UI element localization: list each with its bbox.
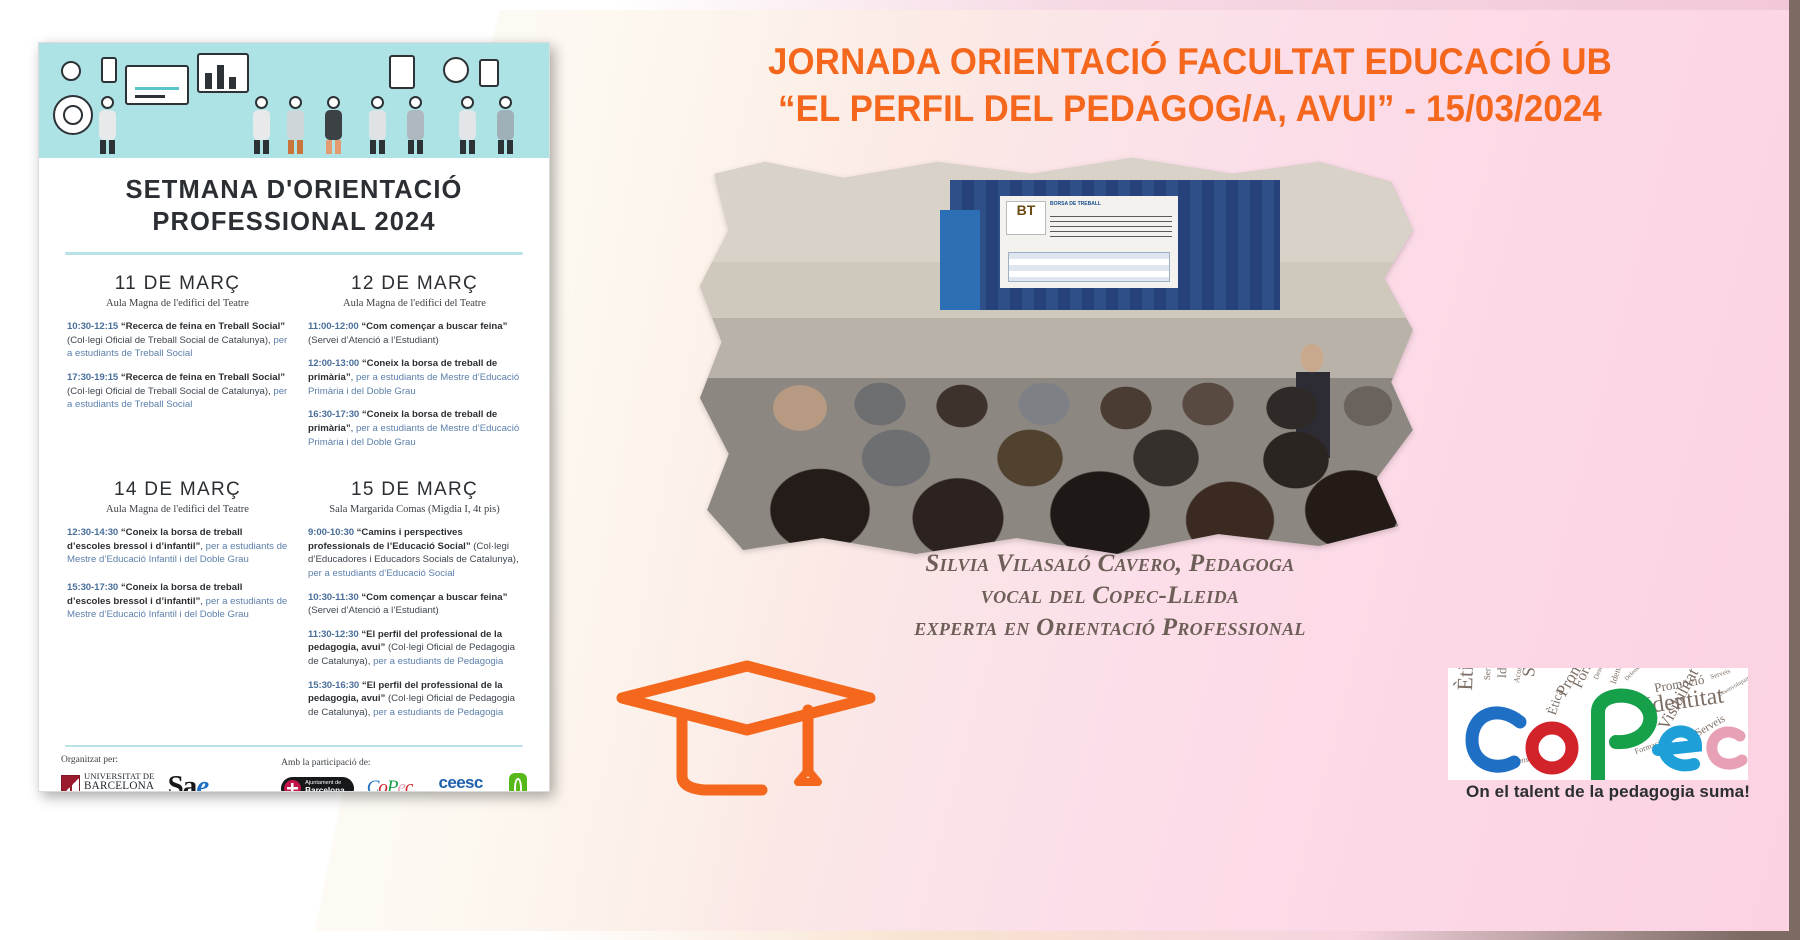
event-item: 10:30-11:30 “Com començar a buscar feina… bbox=[308, 591, 521, 618]
event-audience: per a estudiants d’Educació Social bbox=[308, 568, 455, 579]
speaker-expertise-line: experta en Orientació Professional bbox=[830, 612, 1390, 644]
event-time: 11:30-12:30 bbox=[308, 629, 359, 640]
event-item: 16:30-17:30 “Coneix la borsa de treball … bbox=[308, 408, 521, 449]
event-item: 15:30-17:30 “Coneix la borsa de treball … bbox=[67, 581, 288, 622]
event-item: 17:30-19:15 “Recerca de feina en Treball… bbox=[67, 371, 288, 412]
chart-bar bbox=[217, 65, 224, 89]
event-item: 11:00-12:00 “Com començar a buscar feina… bbox=[308, 320, 521, 347]
day-column-12-marc: 12 DE MARÇ Aula Magna de l'edifici del T… bbox=[294, 267, 527, 459]
speaker-name-line: Silvia Vilasaló Cavero, Pedagoga bbox=[830, 548, 1390, 580]
day-venue: Aula Magna de l'edifici del Teatre bbox=[67, 504, 288, 515]
border-strip-right bbox=[1789, 0, 1800, 940]
participation-label: Amb la participació de: bbox=[281, 758, 527, 768]
clipboard-icon bbox=[101, 57, 117, 83]
organizer-logos: UNIVERSITAT DE BARCELONA Facultat d'Educ… bbox=[61, 770, 255, 792]
presentation-board-icon bbox=[125, 65, 189, 105]
screen-table bbox=[1008, 252, 1170, 282]
screen-text-lines bbox=[1050, 216, 1172, 240]
event-item: 11:30-12:30 “El perfil del professional … bbox=[308, 628, 521, 669]
divider bbox=[65, 745, 523, 747]
lightbulb-icon bbox=[61, 61, 81, 81]
ub-shield-icon bbox=[61, 775, 80, 792]
ub-logo: UNIVERSITAT DE BARCELONA Facultat d'Educ… bbox=[61, 772, 155, 792]
sae-logo-italic: e bbox=[196, 770, 208, 792]
chart-bar bbox=[205, 73, 212, 89]
event-title: “Com començar a buscar feina” bbox=[361, 321, 507, 332]
board-line bbox=[135, 95, 165, 98]
ceesc-logo: ceesc COL·LEGI D'EDUCADORES I EDUCADORS … bbox=[425, 773, 495, 792]
event-time: 15:30-17:30 bbox=[67, 582, 118, 593]
copec-tagline: On el talent de la pedagogia suma! bbox=[1448, 782, 1768, 802]
event-audience: per a estudiants de Pedagogia bbox=[370, 707, 503, 718]
poster-footer: Organitzat per: UNIVERSITAT DE BARCELONA… bbox=[39, 729, 549, 792]
lightbulb-large-icon bbox=[443, 57, 469, 83]
event-poster: SETMANA D'ORIENTACIÓ PROFESSIONAL 2024 1… bbox=[38, 42, 550, 792]
event-title: “Recerca de feina en Treball Social” bbox=[121, 372, 285, 383]
day-venue: Sala Margarida Comas (Migdia I, 4t pis) bbox=[308, 504, 521, 515]
border-strip-bottom bbox=[0, 931, 1800, 940]
ub-logo-line-2: BARCELONA bbox=[84, 781, 155, 792]
copec-wordcloud: Ètica Serveis Identitat Serveis Acompany… bbox=[1448, 668, 1748, 780]
event-time: 12:00-13:00 bbox=[308, 358, 359, 369]
event-org: (Servei d’Atenció a l’Estudiant) bbox=[308, 335, 439, 346]
day-column-15-marc: 15 DE MARÇ Sala Margarida Comas (Migdia … bbox=[294, 473, 527, 729]
wheelchair-hub-icon bbox=[63, 105, 83, 125]
copec-logo: Ètica Serveis Identitat Serveis Acompany… bbox=[1448, 668, 1768, 818]
copec-mini-logo: CoPec bbox=[367, 777, 413, 792]
day-title: 14 DE MARÇ bbox=[67, 479, 288, 501]
chart-bar bbox=[229, 77, 236, 89]
day-column-11-marc: 11 DE MARÇ Aula Magna de l'edifici del T… bbox=[61, 267, 294, 459]
border-strip-left bbox=[0, 0, 10, 940]
event-time: 9:00-10:30 bbox=[308, 527, 354, 538]
event-time: 12:30-14:30 bbox=[67, 527, 118, 538]
speaker-role-line: vocal del Copec-Lleida bbox=[830, 580, 1390, 612]
event-item: 12:30-14:30 “Coneix la borsa de treball … bbox=[67, 526, 288, 567]
screen-heading: BORSA DE TREBALL bbox=[1050, 201, 1176, 207]
ajuntament-barcelona-logo: Ajuntament de Barcelona bbox=[281, 777, 354, 792]
event-org: (Col·legi Oficial de Treball Social de C… bbox=[67, 335, 271, 346]
slide-title: JORNADA ORIENTACIÓ FACULTAT EDUCACIÓ UB … bbox=[610, 38, 1770, 133]
organized-by-label: Organitzat per: bbox=[61, 755, 255, 765]
tablet-icon bbox=[479, 59, 499, 87]
ladder-icon bbox=[389, 55, 415, 89]
day-venue: Aula Magna de l'edifici del Teatre bbox=[308, 298, 521, 309]
event-org: (Col·legi Oficial de Treball Social de C… bbox=[67, 386, 271, 397]
graduation-cap-icon bbox=[612, 658, 882, 798]
schedule-row-1: 11 DE MARÇ Aula Magna de l'edifici del T… bbox=[61, 267, 527, 459]
event-item: 12:00-13:00 “Coneix la borsa de treball … bbox=[308, 357, 521, 398]
event-time: 17:30-19:15 bbox=[67, 372, 118, 383]
sae-logo-text: Sa bbox=[168, 770, 197, 792]
board-line bbox=[135, 87, 179, 90]
poster-illustration-banner bbox=[39, 43, 549, 158]
event-title: “Recerca de feina en Treball Social” bbox=[121, 321, 285, 332]
event-time: 15:30-16:30 bbox=[308, 680, 359, 691]
slide-canvas: JORNADA ORIENTACIÓ FACULTAT EDUCACIÓ UB … bbox=[0, 0, 1800, 940]
title-line-2: “EL PERFIL DEL PEDAGOG/A, AVUI” - 15/03/… bbox=[645, 85, 1735, 132]
day-title: 15 DE MARÇ bbox=[308, 479, 521, 501]
participant-logos: Ajuntament de Barcelona CoPec ceesc COL·… bbox=[281, 773, 527, 792]
day-column-14-marc: 14 DE MARÇ Aula Magna de l'edifici del T… bbox=[61, 473, 294, 729]
copec-letter-shapes bbox=[1448, 668, 1748, 780]
event-audience: per a estudiants de Pedagogia bbox=[370, 656, 503, 667]
ajuntament-crest-icon bbox=[284, 780, 301, 792]
event-time: 10:30-12:15 bbox=[67, 321, 118, 332]
event-time: 11:00-12:00 bbox=[308, 321, 359, 332]
lecture-photo: BT BORSA DE TREBALL bbox=[700, 158, 1420, 558]
poster-heading: SETMANA D'ORIENTACIÓ PROFESSIONAL 2024 bbox=[61, 174, 527, 238]
screen-logo: BT bbox=[1006, 201, 1046, 235]
event-item: 9:00-10:30 “Camins i perspectives profes… bbox=[308, 526, 521, 580]
speaker-caption: Silvia Vilasaló Cavero, Pedagoga vocal d… bbox=[830, 548, 1390, 644]
day-title: 11 DE MARÇ bbox=[67, 273, 288, 295]
event-item: 10:30-12:15 “Recerca de feina en Treball… bbox=[67, 320, 288, 361]
schedule-row-2: 14 DE MARÇ Aula Magna de l'edifici del T… bbox=[61, 473, 527, 729]
border-strip-top bbox=[0, 0, 1800, 10]
lecture-photo-image: BT BORSA DE TREBALL bbox=[700, 158, 1420, 558]
projection-screen: BT BORSA DE TREBALL bbox=[1002, 198, 1176, 286]
title-line-1: JORNADA ORIENTACIÓ FACULTAT EDUCACIÓ UB bbox=[645, 38, 1735, 85]
poster-heading-line-2: PROFESSIONAL 2024 bbox=[152, 208, 435, 236]
event-org: (Servei d’Atenció a l’Estudiant) bbox=[308, 605, 439, 616]
ajuntament-line-2: Barcelona bbox=[305, 787, 345, 792]
footer-captions: Organitzat per: UNIVERSITAT DE BARCELONA… bbox=[61, 755, 527, 792]
ceesc-logo-text: ceesc bbox=[425, 773, 495, 792]
event-title: “Com començar a buscar feina” bbox=[361, 592, 507, 603]
poster-heading-line-1: SETMANA D'ORIENTACIÓ bbox=[126, 176, 463, 204]
day-venue: Aula Magna de l'edifici del Teatre bbox=[67, 298, 288, 309]
day-title: 12 DE MARÇ bbox=[308, 273, 521, 295]
event-item: 15:30-16:30 “El perfil del professional … bbox=[308, 679, 521, 720]
sae-logo: Sae bbox=[168, 770, 209, 792]
divider bbox=[65, 252, 523, 255]
event-time: 10:30-11:30 bbox=[308, 592, 359, 603]
tsc-logo bbox=[509, 773, 527, 792]
event-time: 16:30-17:30 bbox=[308, 409, 359, 420]
